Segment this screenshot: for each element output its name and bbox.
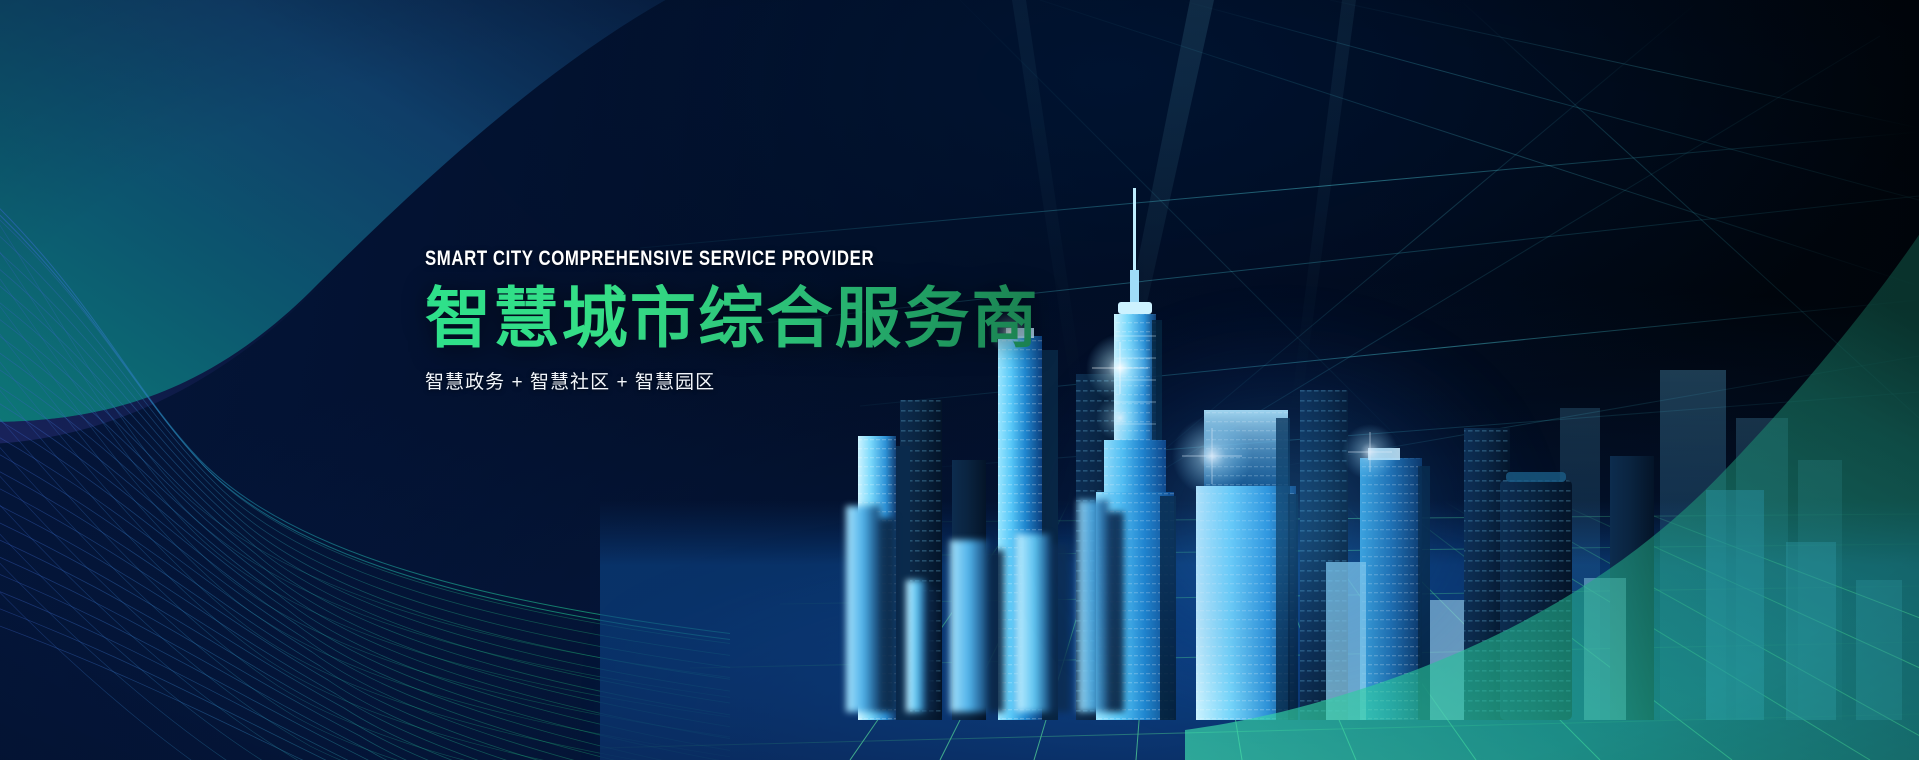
hero-tagline: 智慧政务 + 智慧社区 + 智慧园区 bbox=[425, 367, 1065, 394]
page-title: 智慧城市综合服务商 bbox=[425, 284, 1065, 353]
hero-eyebrow: SMART CITY COMPREHENSIVE SERVICE PROVIDE… bbox=[425, 248, 937, 270]
hero-copy-block: SMART CITY COMPREHENSIVE SERVICE PROVIDE… bbox=[425, 248, 1065, 394]
smart-city-hero-banner: SMART CITY COMPREHENSIVE SERVICE PROVIDE… bbox=[0, 0, 1919, 760]
